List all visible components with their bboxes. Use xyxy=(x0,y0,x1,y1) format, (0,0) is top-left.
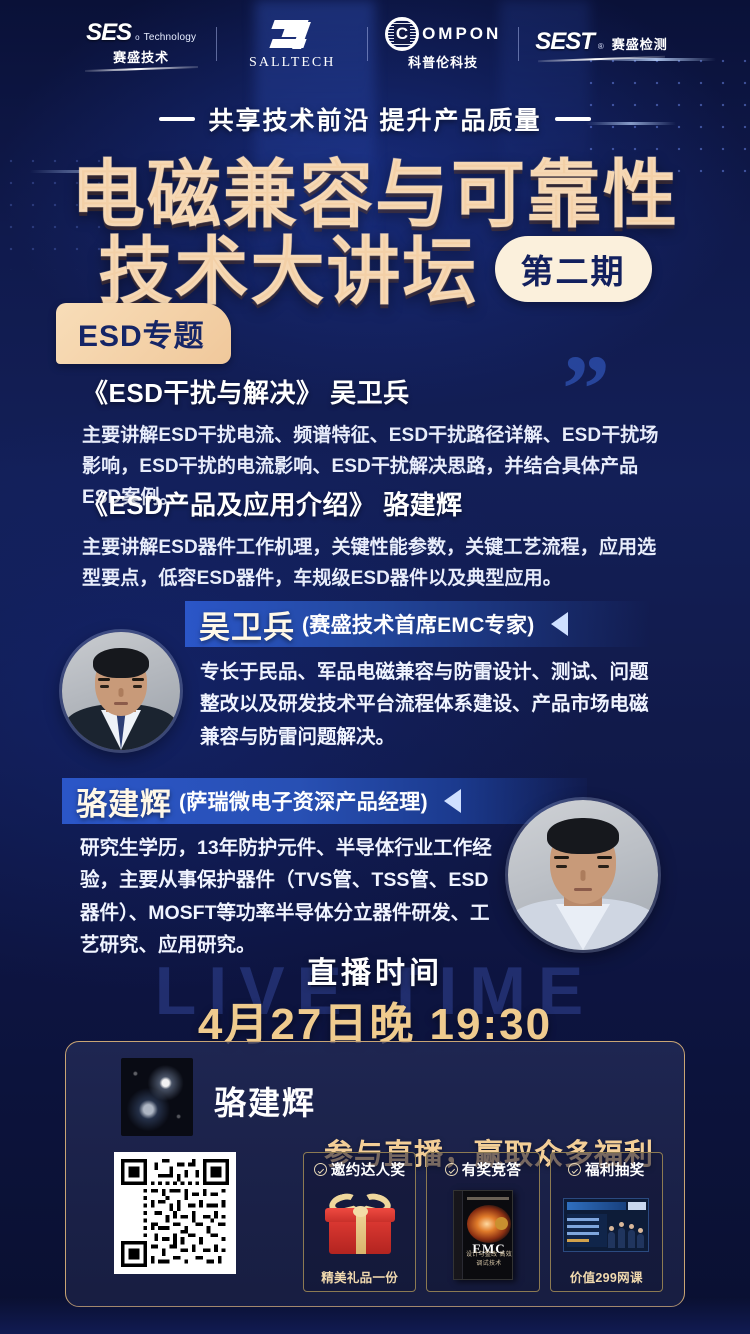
qr-code[interactable] xyxy=(114,1152,236,1274)
logo-underline xyxy=(85,66,198,72)
issue-badge: 第二期 xyxy=(495,236,652,302)
logo-ompon-cn: 科普伦科技 xyxy=(408,52,478,71)
dash-decoration-left xyxy=(159,117,195,121)
prize-1-art xyxy=(307,1183,412,1267)
bottom-info-panel: 骆建辉 参与直播，赢取众多福利 xyxy=(65,1041,685,1307)
prize-1-header: 邀约达人奖 xyxy=(314,1159,406,1180)
prize-1-caption: 精美礼品一份 xyxy=(321,1267,398,1286)
speaker-2-avatar xyxy=(508,800,658,950)
prize-3-art xyxy=(554,1183,659,1267)
speaker-1-role: (赛盛技术首席EMC专家) xyxy=(302,609,535,639)
speaker-1-bio: 专长于民品、军品电磁兼容与防雷设计、测试、问题整改以及研发技术平台流程体系建设、… xyxy=(200,656,660,753)
logo-ompon: C OMPON 科普伦科技 xyxy=(368,17,518,71)
avatar-illustration xyxy=(508,800,658,950)
logo-ses-sup: o xyxy=(135,33,139,42)
logo-salltech-name: SALLTECH xyxy=(249,55,335,71)
subtitle-row: 共享技术前沿 提升产品质量 xyxy=(0,101,750,137)
poster-root: SES o Technology 赛盛技术 SALLTECH C OMPON 科… xyxy=(0,0,750,1334)
topic-title-1: 《ESD干扰与解决》 吴卫兵 xyxy=(82,373,672,410)
prize-2-header: 有奖竞答 xyxy=(445,1159,522,1180)
logo-ses-en: Technology xyxy=(144,32,197,43)
logo-underline xyxy=(538,56,665,62)
prize-3-title: 福利抽奖 xyxy=(585,1159,645,1180)
dash-decoration-right xyxy=(555,117,591,121)
book-icon: EMC 设计与整改 高效调试技术 xyxy=(453,1190,513,1280)
logo-sest-sup: ® xyxy=(598,42,604,51)
partner-logo-strip: SES o Technology 赛盛技术 SALLTECH C OMPON 科… xyxy=(0,0,750,88)
prize-3-caption: 价值299网课 xyxy=(570,1267,643,1286)
footer-glow-decoration xyxy=(0,1298,750,1334)
logo-ses-cn: 赛盛技术 xyxy=(113,47,169,66)
logo-ses-mark: SES xyxy=(86,19,131,47)
speaker-2-bio: 研究生学历，13年防护元件、半导体行业工作经验，主要从事保护器件（TVS管、TS… xyxy=(80,832,500,961)
prize-item-1: 邀约达人奖 精美礼品一份 xyxy=(303,1152,416,1292)
logo-ompon-letters: OMPON xyxy=(422,24,501,44)
prize-list: 邀约达人奖 精美礼品一份 有奖竞答 xyxy=(303,1152,663,1292)
speaker-1-name: 吴卫兵 xyxy=(199,602,295,647)
check-circle-icon xyxy=(314,1163,327,1176)
prize-item-2: 有奖竞答 EMC 设计与整改 高效调试技术 xyxy=(426,1152,539,1292)
prize-2-art: EMC 设计与整改 高效调试技术 xyxy=(430,1183,535,1286)
section-tag-esd: ESD专题 xyxy=(56,303,231,364)
live-time-label: 直播时间 xyxy=(0,948,750,992)
topic-title-2: 《ESD产品及应用介绍》 骆建辉 xyxy=(82,485,672,522)
left-arrow-icon xyxy=(444,789,461,813)
logo-sest-mark: SEST xyxy=(535,28,594,56)
logo-sest-cn: 赛盛检测 xyxy=(612,34,668,53)
qr-code-svg xyxy=(121,1159,229,1267)
speaker-1-namebar: 吴卫兵 (赛盛技术首席EMC专家) xyxy=(185,601,650,647)
logo-sest: SEST ® 赛盛检测 xyxy=(519,28,684,60)
prize-3-header: 福利抽奖 xyxy=(568,1159,645,1180)
poster-subtitle: 共享技术前沿 提升产品质量 xyxy=(209,101,542,137)
logo-ses: SES o Technology 赛盛技术 xyxy=(66,19,216,70)
topic-body-2: 主要讲解ESD器件工作机理，关键性能参数，关键工艺流程，应用选型要点，低容ESD… xyxy=(82,533,672,595)
topic-block-2: 《ESD产品及应用介绍》 骆建辉 主要讲解ESD器件工作机理，关键性能参数，关键… xyxy=(82,485,672,595)
left-arrow-icon xyxy=(551,612,568,636)
avatar-illustration xyxy=(62,632,180,750)
prize-1-title: 邀约达人奖 xyxy=(331,1159,406,1180)
gift-box-icon xyxy=(323,1194,397,1256)
check-circle-icon xyxy=(445,1163,458,1176)
course-thumbnail-icon xyxy=(563,1198,649,1252)
book-subtitle: 设计与整改 高效调试技术 xyxy=(465,1249,513,1267)
contact-name: 骆建辉 xyxy=(214,1078,316,1124)
speaker-2-role: (萨瑞微电子资深产品经理) xyxy=(179,786,428,816)
speaker-2-name: 骆建辉 xyxy=(76,779,172,824)
logo-salltech: SALLTECH xyxy=(217,18,367,71)
prize-2-title: 有奖竞答 xyxy=(462,1159,522,1180)
salltech-glyph-icon xyxy=(267,18,317,52)
speaker-1-avatar xyxy=(62,632,180,750)
prize-item-3: 福利抽奖 价值29 xyxy=(550,1152,663,1292)
contact-thumbnail-image xyxy=(121,1058,193,1136)
ompon-globe-icon: C xyxy=(385,17,419,51)
check-circle-icon xyxy=(568,1163,581,1176)
